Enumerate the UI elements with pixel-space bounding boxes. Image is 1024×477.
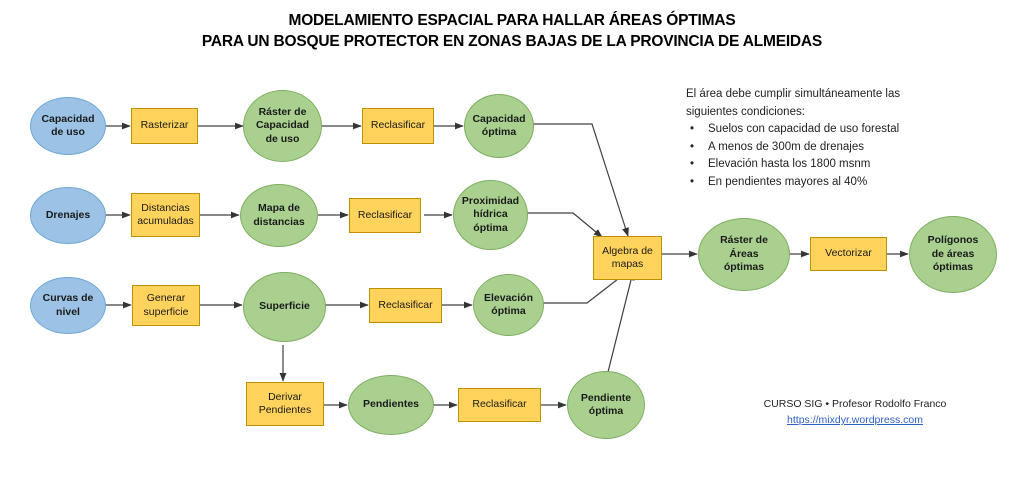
node-label: Pendienteóptima: [568, 392, 644, 419]
edge-pendienteoptima-algebra: [608, 272, 633, 372]
course-website-link[interactable]: https://mixdyr.wordpress.com: [787, 412, 923, 428]
node-pendientes[interactable]: Pendientes: [348, 375, 434, 435]
node-label: Curvas denivel: [31, 292, 105, 319]
conditions-intro-line-2: siguientes condiciones:: [686, 104, 1006, 122]
credit-block: CURSO SIG • Profesor Rodolfo Franco http…: [700, 396, 1010, 428]
course-credit: CURSO SIG • Profesor Rodolfo Franco: [700, 396, 1010, 412]
node-label: Generarsuperficie: [133, 292, 199, 319]
node-label: Drenajes: [31, 209, 105, 223]
node-superficie[interactable]: Superficie: [243, 272, 326, 342]
condition-text: En pendientes mayores al 40%: [708, 176, 867, 188]
node-label: Reclasificar: [370, 299, 441, 313]
page-title: MODELAMIENTO ESPACIAL PARA HALLAR ÁREAS …: [0, 10, 1024, 52]
node-label: Pendientes: [349, 398, 433, 412]
condition-item: • Elevación hasta los 1800 msnm: [686, 156, 1006, 174]
node-raster-capacidad-de-uso[interactable]: Ráster deCapacidadde uso: [243, 90, 322, 162]
node-algebra-de-mapas[interactable]: Algebra demapas: [593, 236, 662, 280]
node-poligonos-de-areas-optimas[interactable]: Polígonosde áreasóptimas: [909, 216, 997, 293]
node-label: Mapa dedistancias: [241, 202, 317, 229]
node-raster-areas-optimas[interactable]: Ráster deÁreasóptimas: [698, 218, 790, 291]
node-distancias-acumuladas[interactable]: Distanciasacumuladas: [131, 193, 200, 237]
node-reclasificar-4[interactable]: Reclasificar: [458, 388, 541, 422]
node-reclasificar-3[interactable]: Reclasificar: [369, 288, 442, 323]
node-label: Proximidadhídricaóptima: [454, 195, 527, 236]
condition-item: • A menos de 300m de drenajes: [686, 139, 1006, 157]
edge-proximidad-algebra: [527, 213, 602, 237]
node-label: Distanciasacumuladas: [132, 202, 199, 229]
bullet-icon: •: [690, 174, 694, 192]
condition-item: • En pendientes mayores al 40%: [686, 174, 1006, 192]
conditions-list: • Suelos con capacidad de uso forestal •…: [686, 121, 1006, 191]
node-label: Capacidadóptima: [465, 113, 533, 140]
condition-text: A menos de 300m de drenajes: [708, 141, 864, 153]
node-label: Ráster deCapacidadde uso: [244, 106, 321, 147]
node-label: Vectorizar: [811, 247, 886, 261]
node-capacidad-de-uso[interactable]: Capacidadde uso: [30, 97, 106, 155]
node-curvas-de-nivel[interactable]: Curvas denivel: [30, 277, 106, 334]
conditions-intro-line-1: El área debe cumplir simultáneamente las: [686, 86, 1006, 104]
condition-item: • Suelos con capacidad de uso forestal: [686, 121, 1006, 139]
title-line-1: MODELAMIENTO ESPACIAL PARA HALLAR ÁREAS …: [0, 10, 1024, 31]
node-mapa-de-distancias[interactable]: Mapa dedistancias: [240, 184, 318, 247]
condition-text: Suelos con capacidad de uso forestal: [708, 123, 899, 135]
bullet-icon: •: [690, 121, 694, 139]
bullet-icon: •: [690, 139, 694, 157]
node-label: DerivarPendientes: [247, 391, 323, 418]
node-label: Reclasificar: [363, 119, 433, 133]
node-elevacion-optima[interactable]: Elevaciónóptima: [473, 274, 544, 336]
node-rasterizar[interactable]: Rasterizar: [131, 108, 198, 144]
conditions-note: El área debe cumplir simultáneamente las…: [686, 86, 1006, 191]
node-pendiente-optima[interactable]: Pendienteóptima: [567, 371, 645, 439]
node-label: Reclasificar: [459, 398, 540, 412]
node-label: Ráster deÁreasóptimas: [699, 234, 789, 275]
bullet-icon: •: [690, 156, 694, 174]
node-label: Rasterizar: [132, 119, 197, 133]
condition-text: Elevación hasta los 1800 msnm: [708, 158, 870, 170]
node-label: Superficie: [244, 300, 325, 314]
title-line-2: PARA UN BOSQUE PROTECTOR EN ZONAS BAJAS …: [0, 31, 1024, 52]
edge-capacidadoptima-algebra: [532, 124, 628, 236]
node-capacidad-optima[interactable]: Capacidadóptima: [464, 94, 534, 158]
node-vectorizar[interactable]: Vectorizar: [810, 237, 887, 271]
node-reclasificar-1[interactable]: Reclasificar: [362, 108, 434, 144]
node-label: Capacidadde uso: [31, 113, 105, 140]
node-derivar-pendientes[interactable]: DerivarPendientes: [246, 382, 324, 426]
node-reclasificar-2[interactable]: Reclasificar: [349, 198, 421, 233]
node-label: Elevaciónóptima: [474, 292, 543, 319]
diagram-canvas: MODELAMIENTO ESPACIAL PARA HALLAR ÁREAS …: [0, 0, 1024, 477]
node-label: Reclasificar: [350, 209, 420, 223]
node-proximidad-hidrica-optima[interactable]: Proximidadhídricaóptima: [453, 180, 528, 250]
node-drenajes[interactable]: Drenajes: [30, 187, 106, 244]
node-label: Algebra demapas: [594, 245, 661, 272]
node-generar-superficie[interactable]: Generarsuperficie: [132, 285, 200, 326]
node-label: Polígonosde áreasóptimas: [910, 234, 996, 275]
